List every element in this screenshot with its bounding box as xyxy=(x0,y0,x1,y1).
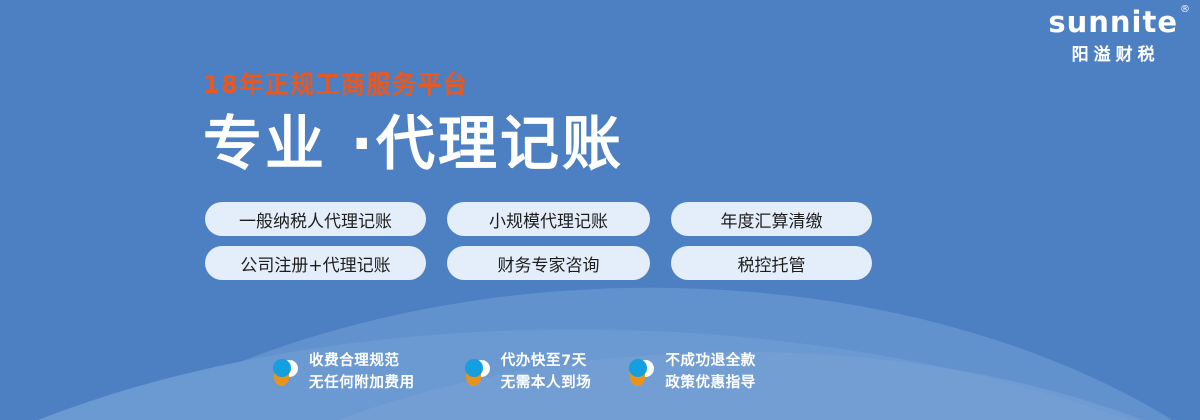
feature-item-text: 代办快至7天 无需本人到场 xyxy=(501,350,592,395)
service-pill-grid: 一般纳税人代理记账 小规模代理记账 年度汇算清缴 公司注册+代理记账 财务专家咨… xyxy=(205,202,872,280)
feature-list: 收费合理规范 无任何附加费用 代办快至7天 无需本人到场 不成功退全款 xyxy=(272,350,756,395)
feature-item-speed: 代办快至7天 无需本人到场 xyxy=(464,350,592,395)
background-wave-upper xyxy=(0,272,1200,420)
circle-drop-icon xyxy=(464,358,491,386)
registered-trademark-icon: ® xyxy=(1180,5,1191,15)
feature-line-1: 代办快至7天 xyxy=(501,350,592,372)
circle-drop-icon xyxy=(272,358,299,386)
service-pill-row: 一般纳税人代理记账 小规模代理记账 年度汇算清缴 xyxy=(205,202,872,236)
feature-line-1: 收费合理规范 xyxy=(309,350,415,372)
logo-wordmark-text: sunnite xyxy=(1048,5,1178,39)
service-pill-tax-control-hosting[interactable]: 税控托管 xyxy=(671,246,872,280)
service-pill-general-taxpayer[interactable]: 一般纳税人代理记账 xyxy=(205,202,426,236)
brand-logo[interactable]: sunnite ® 阳溢财税 xyxy=(1048,8,1178,63)
headline-block: 18年正规工商服务平台 专业 ·代理记账 xyxy=(203,72,624,177)
feature-item-text: 收费合理规范 无任何附加费用 xyxy=(309,350,415,395)
feature-line-2: 无任何附加费用 xyxy=(309,372,415,394)
promo-banner: sunnite ® 阳溢财税 18年正规工商服务平台 专业 ·代理记账 一般纳税… xyxy=(0,0,1200,420)
feature-line-2: 政策优惠指导 xyxy=(665,372,756,394)
logo-wordmark: sunnite ® xyxy=(1048,8,1178,37)
service-pill-company-registration[interactable]: 公司注册+代理记账 xyxy=(205,246,426,280)
feature-item-pricing: 收费合理规范 无任何附加费用 xyxy=(272,350,415,395)
circle-drop-icon xyxy=(628,358,655,386)
service-pill-row: 公司注册+代理记账 财务专家咨询 税控托管 xyxy=(205,246,872,280)
page-title: 专业 ·代理记账 xyxy=(203,111,624,177)
feature-line-1: 不成功退全款 xyxy=(665,350,756,372)
service-pill-small-scale[interactable]: 小规模代理记账 xyxy=(447,202,650,236)
feature-item-guarantee: 不成功退全款 政策优惠指导 xyxy=(628,350,756,395)
service-pill-annual-settlement[interactable]: 年度汇算清缴 xyxy=(671,202,872,236)
logo-chinese-name: 阳溢财税 xyxy=(1048,46,1178,63)
service-pill-finance-consulting[interactable]: 财务专家咨询 xyxy=(447,246,650,280)
feature-item-text: 不成功退全款 政策优惠指导 xyxy=(665,350,756,395)
feature-line-2: 无需本人到场 xyxy=(501,372,592,394)
eyebrow-text: 18年正规工商服务平台 xyxy=(203,72,607,97)
